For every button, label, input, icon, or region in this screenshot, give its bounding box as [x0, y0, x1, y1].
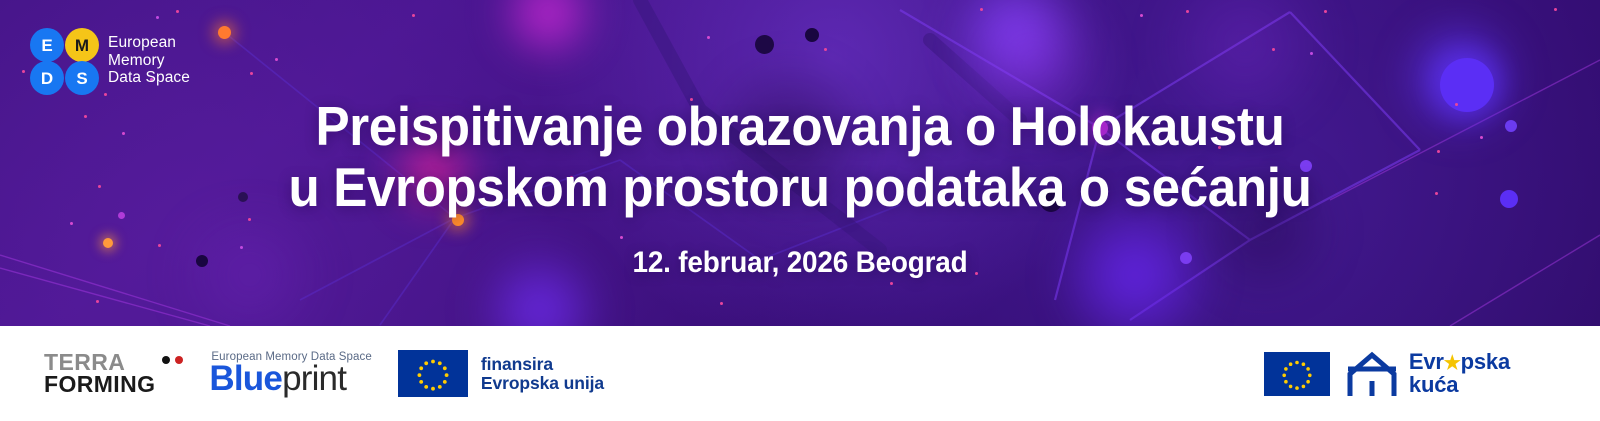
- terraforming-dot-black: [162, 356, 170, 364]
- emds-letter-s: S: [65, 61, 99, 95]
- particle: [1310, 52, 1313, 55]
- evropska-kuca-wordmark: Evr★pska kuća: [1409, 351, 1510, 396]
- evropska-kuca-logo[interactable]: Evr★pska kuća: [1344, 350, 1510, 398]
- event-title-line-2: u Evropskom prostoru podataka o sećanju: [56, 157, 1544, 218]
- emds-letter-e: E: [30, 28, 64, 62]
- particle: [620, 236, 623, 239]
- particle: [70, 222, 73, 225]
- emds-logo-line-3: Data Space: [108, 69, 190, 87]
- event-banner: E M D S European Memory Data Space Preis…: [0, 0, 1600, 421]
- particle: [412, 14, 415, 17]
- ek-text-after-star: pska: [1461, 349, 1510, 374]
- eu-flag-stars: [398, 350, 468, 397]
- eu-funding-text: finansira Evropska unija: [481, 355, 604, 393]
- emds-logo[interactable]: E M D S European Memory Data Space: [30, 28, 190, 93]
- blueprint-logo[interactable]: European Memory Data Space Blueprint: [209, 351, 372, 395]
- blueprint-word-dark: print: [282, 359, 346, 398]
- network-node: [805, 28, 819, 42]
- particle: [1186, 10, 1189, 13]
- blueprint-word-blue: Blue: [209, 359, 282, 398]
- footer-left-logos: TERRA FORMING European Memory Data Space…: [44, 350, 604, 397]
- terraforming-dot-red: [175, 356, 183, 364]
- eu-flag-icon: [1264, 352, 1330, 396]
- particle: [176, 10, 179, 13]
- event-title-line-1: Preispitivanje obrazovanja o Holokaustu: [56, 96, 1544, 157]
- particle: [275, 58, 278, 61]
- eu-flag-stars: [1264, 352, 1330, 396]
- particle: [22, 70, 25, 73]
- particle: [1554, 8, 1557, 11]
- blueprint-wordmark: Blueprint: [209, 362, 372, 395]
- hero-section: E M D S European Memory Data Space Preis…: [0, 0, 1600, 326]
- particle: [890, 282, 893, 285]
- terraforming-wordmark: TERRA FORMING: [44, 352, 155, 395]
- event-date-location: 12. februar, 2026 Beograd: [56, 246, 1544, 280]
- particle: [156, 16, 159, 19]
- particle: [96, 300, 99, 303]
- ek-text-before-star: Evr: [1409, 349, 1444, 374]
- evropska-kuca-line-2: kuća: [1409, 374, 1510, 396]
- eu-flag-icon: [398, 350, 468, 397]
- house-icon: [1344, 350, 1400, 398]
- network-node: [218, 26, 231, 39]
- particle: [250, 72, 253, 75]
- particle: [248, 218, 251, 221]
- evropska-kuca-line-1: Evr★pska: [1409, 351, 1510, 373]
- particle: [1272, 48, 1275, 51]
- particle: [720, 302, 723, 305]
- event-title: Preispitivanje obrazovanja o Holokaustu …: [0, 96, 1600, 218]
- particle: [1324, 10, 1327, 13]
- particle: [980, 8, 983, 11]
- footer-logo-bar: TERRA FORMING European Memory Data Space…: [0, 326, 1600, 421]
- terraforming-line-2: FORMING: [44, 374, 155, 395]
- star-icon: ★: [1444, 353, 1461, 374]
- terraforming-dots-icon: [162, 352, 183, 396]
- emds-logo-text: European Memory Data Space: [108, 34, 190, 87]
- particle: [824, 48, 827, 51]
- emds-logo-line-2: Memory: [108, 52, 190, 70]
- emds-letter-d: D: [30, 61, 64, 95]
- footer-right-logos: Evr★pska kuća: [1264, 350, 1558, 398]
- terraforming-logo[interactable]: TERRA FORMING: [44, 352, 183, 396]
- particle: [707, 36, 710, 39]
- eu-funding-line-2: Evropska unija: [481, 374, 604, 393]
- emds-logo-mark: E M D S: [30, 28, 99, 93]
- particle: [1140, 14, 1143, 17]
- eu-funding-logo[interactable]: finansira Evropska unija: [398, 350, 604, 397]
- eu-funding-line-1: finansira: [481, 355, 604, 374]
- emds-logo-line-1: European: [108, 34, 190, 52]
- emds-letter-m: M: [65, 28, 99, 62]
- network-node: [755, 35, 774, 54]
